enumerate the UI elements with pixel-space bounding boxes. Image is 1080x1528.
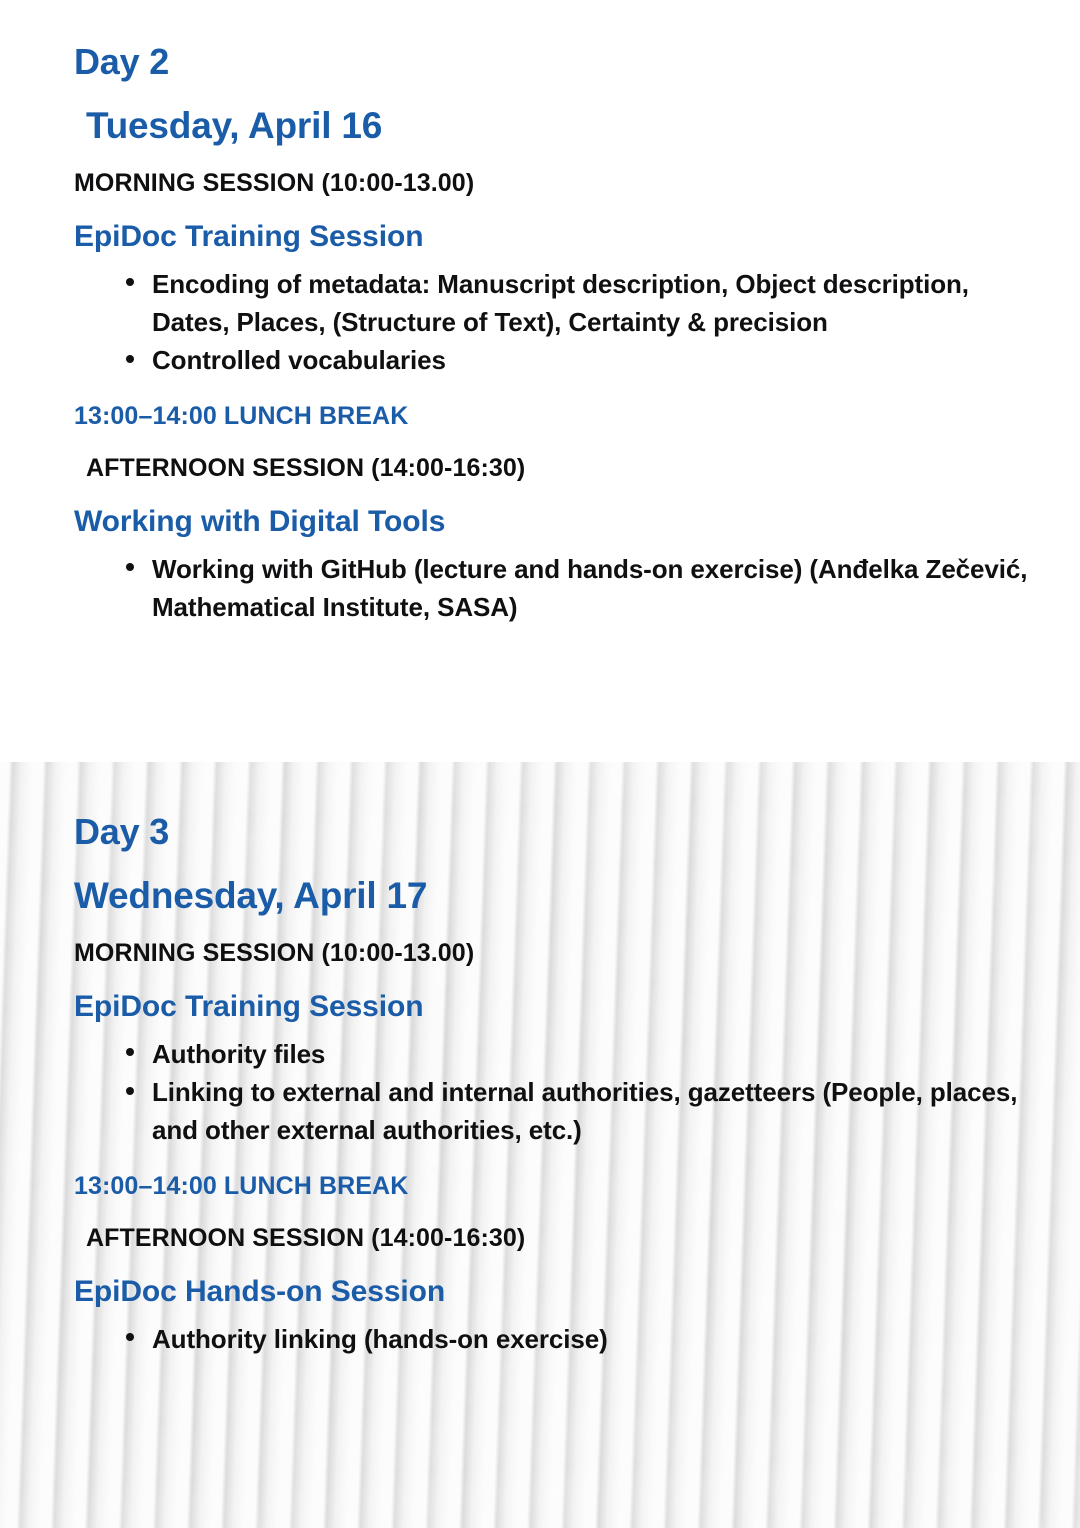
day-3-morning-bullet-list: Authority files Linking to external and … (40, 1035, 1040, 1150)
list-item-text: Working with GitHub (lecture and hands-o… (152, 554, 1027, 622)
bullet-dot-icon (126, 355, 134, 363)
list-item-text: Linking to external and internal authori… (152, 1077, 1017, 1145)
bullet-dot-icon (126, 1048, 134, 1056)
day-3-morning-session-label: MORNING SESSION (10:00-13.00) (74, 938, 1040, 968)
list-item: Linking to external and internal authori… (126, 1073, 1040, 1149)
bullet-dot-icon (126, 1087, 134, 1095)
day-2-content: Day 2 Tuesday, April 16 MORNING SESSION … (40, 42, 1040, 626)
day-2-morning-session-title: EpiDoc Training Session (74, 220, 1040, 255)
list-item-text: Authority files (152, 1039, 325, 1069)
bullet-dot-icon (126, 278, 134, 286)
day-2-afternoon-session-label: AFTERNOON SESSION (14:00-16:30) (86, 453, 1040, 483)
list-item: Authority linking (hands-on exercise) (126, 1320, 1040, 1358)
list-item-text: Authority linking (hands-on exercise) (152, 1324, 608, 1354)
day-2-day-label: Day 2 (74, 42, 1040, 82)
day-2-afternoon-session-title: Working with Digital Tools (74, 505, 1040, 540)
list-item-text: Controlled vocabularies (152, 345, 446, 375)
day-2-morning-session-label: MORNING SESSION (10:00-13.00) (74, 168, 1040, 198)
day-3-afternoon-bullet-list: Authority linking (hands-on exercise) (40, 1320, 1040, 1358)
day-2-section: Day 2 Tuesday, April 16 MORNING SESSION … (0, 0, 1080, 762)
day-3-day-label: Day 3 (74, 812, 1040, 852)
schedule-page: Day 2 Tuesday, April 16 MORNING SESSION … (0, 0, 1080, 1528)
day-3-morning-session-title: EpiDoc Training Session (74, 990, 1040, 1025)
day-2-morning-bullet-list: Encoding of metadata: Manuscript descrip… (40, 265, 1040, 380)
bullet-dot-icon (126, 1333, 134, 1341)
list-item-text: Encoding of metadata: Manuscript descrip… (152, 269, 969, 337)
day-2-date: Tuesday, April 16 (86, 106, 1040, 147)
day-3-afternoon-session-title: EpiDoc Hands-on Session (74, 1275, 1040, 1310)
day-3-content: Day 3 Wednesday, April 17 MORNING SESSIO… (40, 812, 1040, 1358)
day-3-section: Day 3 Wednesday, April 17 MORNING SESSIO… (0, 762, 1080, 1528)
day-3-lunch-break-label: 13:00–14:00 LUNCH BREAK (74, 1171, 1040, 1201)
list-item: Controlled vocabularies (126, 341, 1040, 379)
day-3-afternoon-session-label: AFTERNOON SESSION (14:00-16:30) (86, 1223, 1040, 1253)
day-2-afternoon-bullet-list: Working with GitHub (lecture and hands-o… (40, 550, 1040, 626)
day-3-date: Wednesday, April 17 (74, 876, 1040, 917)
day-2-lunch-break-label: 13:00–14:00 LUNCH BREAK (74, 401, 1040, 431)
list-item: Encoding of metadata: Manuscript descrip… (126, 265, 1040, 341)
list-item: Authority files (126, 1035, 1040, 1073)
bullet-dot-icon (126, 563, 134, 571)
list-item: Working with GitHub (lecture and hands-o… (126, 550, 1040, 626)
